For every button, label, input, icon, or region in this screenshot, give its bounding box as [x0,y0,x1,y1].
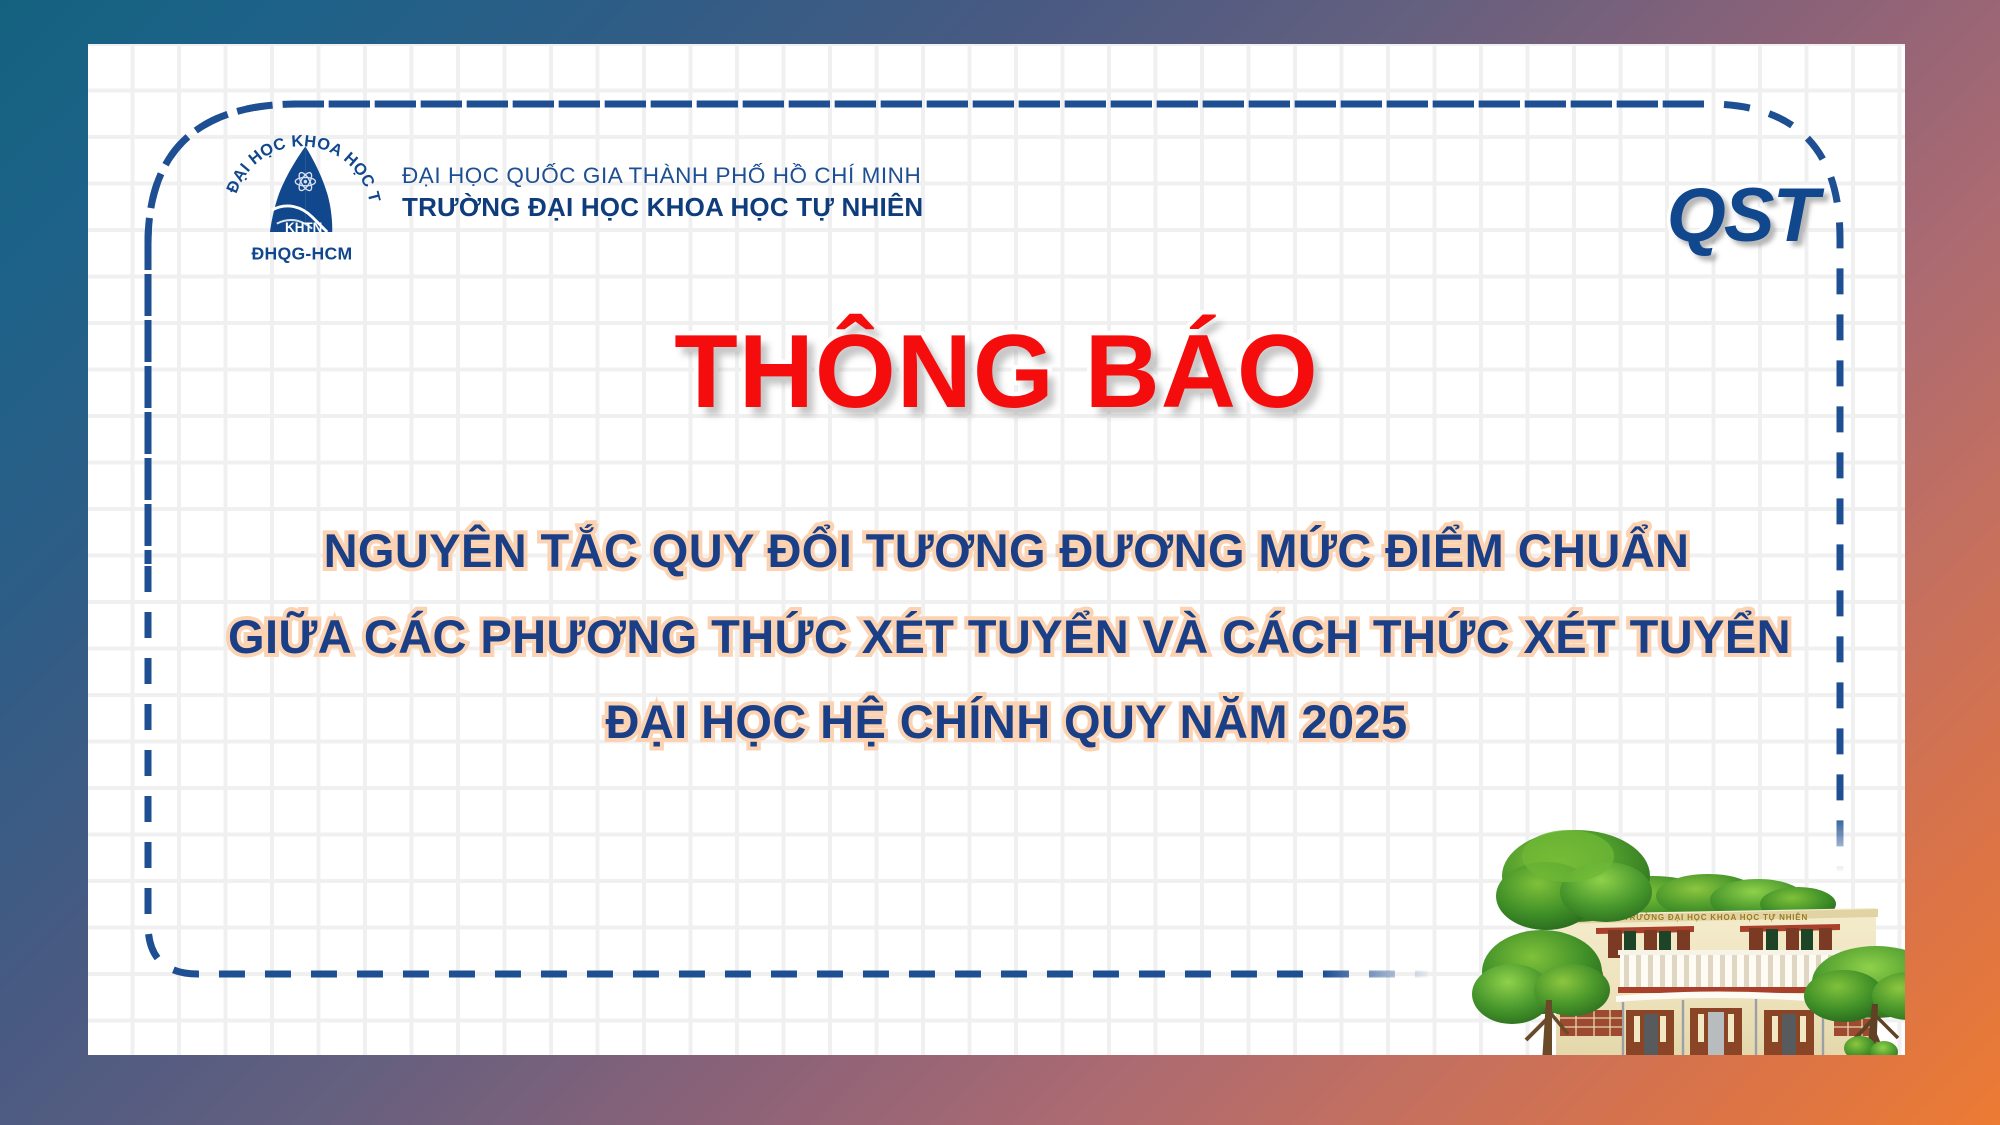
org-line-national-university: ĐẠI HỌC QUỐC GIA THÀNH PHỐ HỒ CHÍ MINH [402,163,923,190]
subtitle-block: NGUYÊN TẮC QUY ĐỔI TƯƠNG ĐƯƠNG MỨC ĐIỂM … [228,508,1785,765]
poster-canvas: TRƯỜNG ĐẠI HỌC KHOA HỌC TỰ NHIÊN KHTN ĐH… [0,0,2000,1125]
subtitle-line-2: GIỮA CÁC PHƯƠNG THỨC XÉT TUYỂN VÀ CÁCH T… [228,594,1785,680]
org-line-university-of-science: TRƯỜNG ĐẠI HỌC KHOA HỌC TỰ NHIÊN [402,192,923,223]
tree-large-left [1496,830,1652,930]
entrance-doors [1626,1008,1814,1055]
qst-wordmark: QST [1667,172,1817,259]
logo-khtn-label: KHTN [285,220,322,235]
logo-dhqg-label: ĐHQG-HCM [252,244,353,264]
subtitle-line-1: NGUYÊN TẮC QUY ĐỔI TƯƠNG ĐƯƠNG MỨC ĐIỂM … [228,508,1785,594]
poster-card: TRƯỜNG ĐẠI HỌC KHOA HỌC TỰ NHIÊN KHTN ĐH… [88,44,1905,1055]
university-building-illustration: TRƯỜNG ĐẠI HỌC KHOA HỌC TỰ NHIÊN [1468,804,1905,1055]
organisation-names: ĐẠI HỌC QUỐC GIA THÀNH PHỐ HỒ CHÍ MINH T… [402,157,923,222]
subtitle-line-3: ĐẠI HỌC HỆ CHÍNH QUY NĂM 2025 [228,679,1785,765]
khtn-logo-icon: TRƯỜNG ĐẠI HỌC KHOA HỌC TỰ NHIÊN KHTN ĐH… [218,106,386,274]
university-logo-block: TRƯỜNG ĐẠI HỌC KHOA HỌC TỰ NHIÊN KHTN ĐH… [218,106,923,274]
building-facade-text: TRƯỜNG ĐẠI HỌC KHOA HỌC TỰ NHIÊN [1624,913,1808,922]
page-title: THÔNG BÁO [88,320,1905,424]
